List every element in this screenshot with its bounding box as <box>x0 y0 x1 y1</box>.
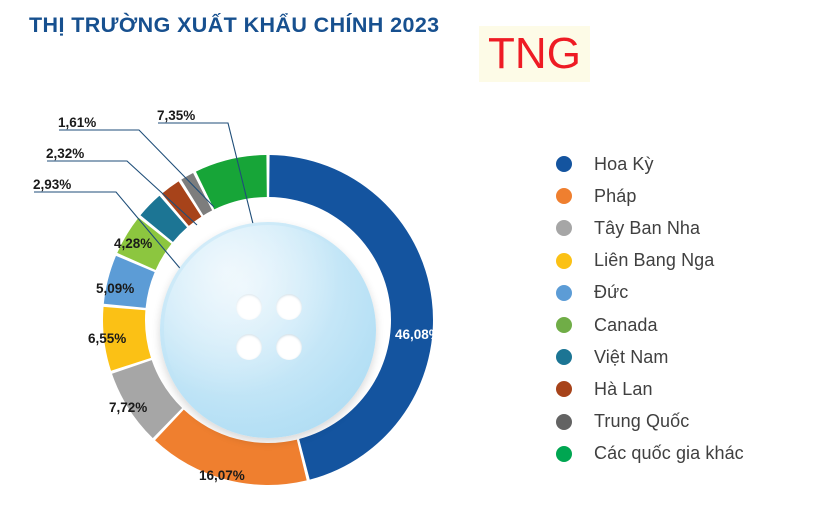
slice-label-duc: 5,09% <box>96 281 134 296</box>
legend-item[interactable]: Việt Nam <box>556 341 826 373</box>
legend-item-label: Canada <box>594 315 658 336</box>
callout-viet-nam: 2,93% <box>33 177 71 192</box>
legend-item-label: Hoa Kỳ <box>594 154 654 175</box>
button-hole-top-right <box>276 294 302 320</box>
slice-label-hoa-ky: 46,08% <box>395 327 441 342</box>
slice-label-phap: 16,07% <box>199 468 245 483</box>
page-title: THỊ TRƯỜNG XUẤT KHẨU CHÍNH 2023 <box>29 13 440 38</box>
slice-label-tay-ban-nha: 7,72% <box>109 400 147 415</box>
legend-color-swatch-icon <box>556 381 572 397</box>
legend-item-label: Việt Nam <box>594 347 669 368</box>
legend-color-swatch-icon <box>556 188 572 204</box>
callout-trung-quoc: 1,61% <box>58 115 96 130</box>
button-hole-top-left <box>236 294 262 320</box>
legend-item[interactable]: Các quốc gia khác <box>556 438 826 470</box>
callout-cac-quoc-gia-khac: 7,35% <box>157 108 195 123</box>
legend-color-swatch-icon <box>556 349 572 365</box>
legend-item-label: Hà Lan <box>594 379 653 400</box>
callout-ha-lan: 2,32% <box>46 146 84 161</box>
button-hole-bottom-right <box>276 334 302 360</box>
legend-item[interactable]: Liên Bang Nga <box>556 245 826 277</box>
legend-color-swatch-icon <box>556 156 572 172</box>
slice-label-canada: 4,28% <box>114 236 152 251</box>
legend-color-swatch-icon <box>556 253 572 269</box>
legend-color-swatch-icon <box>556 220 572 236</box>
legend-item[interactable]: Canada <box>556 309 826 341</box>
legend-color-swatch-icon <box>556 285 572 301</box>
button-graphic <box>160 222 376 438</box>
legend-item-label: Đức <box>594 282 628 303</box>
legend-item-label: Liên Bang Nga <box>594 250 714 271</box>
legend-item[interactable]: Trung Quốc <box>556 406 826 438</box>
legend-item[interactable]: Đức <box>556 277 826 309</box>
tng-logo: TNG <box>479 26 590 82</box>
legend-item[interactable]: Tây Ban Nha <box>556 212 826 244</box>
chart-legend: Hoa KỳPhápTây Ban NhaLiên Bang NgaĐứcCan… <box>556 148 826 470</box>
legend-color-swatch-icon <box>556 446 572 462</box>
legend-color-swatch-icon <box>556 317 572 333</box>
legend-color-swatch-icon <box>556 414 572 430</box>
donut-chart: 46,08%16,07%7,72%6,55%5,09%4,28% 2,93%2,… <box>0 95 540 517</box>
legend-item-label: Tây Ban Nha <box>594 218 700 239</box>
button-hole-bottom-left <box>236 334 262 360</box>
legend-item[interactable]: Hà Lan <box>556 373 826 405</box>
legend-item[interactable]: Hoa Kỳ <box>556 148 826 180</box>
legend-item-label: Trung Quốc <box>594 411 689 432</box>
callout-line-trung-quoc <box>59 130 214 207</box>
legend-item[interactable]: Pháp <box>556 180 826 212</box>
logo-text: TNG <box>488 32 581 76</box>
slice-label-lien-bang-nga: 6,55% <box>88 331 126 346</box>
chart-page: THỊ TRƯỜNG XUẤT KHẨU CHÍNH 2023 TNG 46,0… <box>0 0 836 517</box>
legend-item-label: Pháp <box>594 186 636 207</box>
legend-item-label: Các quốc gia khác <box>594 443 744 464</box>
